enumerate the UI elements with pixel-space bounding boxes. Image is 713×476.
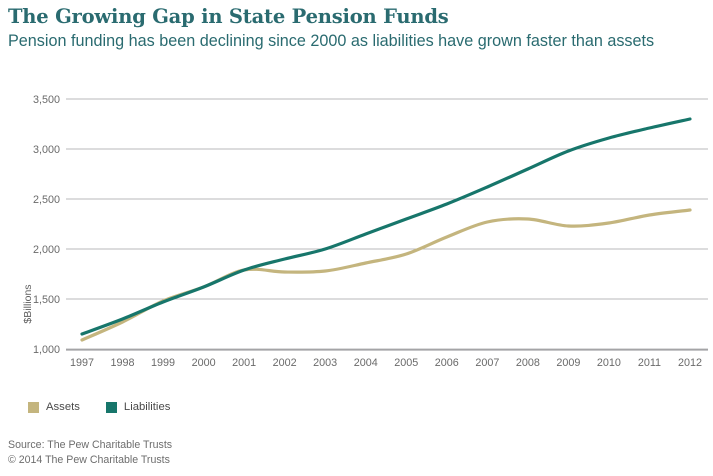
svg-text:2001: 2001	[232, 357, 256, 369]
copyright-note: © 2014 The Pew Charitable Trusts	[8, 453, 172, 468]
chart-title: The Growing Gap in State Pension Funds	[8, 6, 708, 28]
svg-text:2,500: 2,500	[33, 194, 60, 206]
source-note: Source: The Pew Charitable Trusts	[8, 438, 172, 453]
svg-text:2002: 2002	[273, 357, 297, 369]
legend-label-assets: Assets	[46, 401, 80, 413]
svg-text:1,500: 1,500	[33, 294, 60, 306]
y-axis-title: $Billions	[22, 259, 34, 349]
legend-label-liabilities: Liabilities	[124, 401, 170, 413]
svg-text:2011: 2011	[638, 357, 661, 369]
x-axis-tick-labels: 1997199819992000200120022003200420052006…	[70, 357, 702, 369]
svg-text:2004: 2004	[354, 357, 378, 369]
svg-text:1,000: 1,000	[33, 344, 60, 356]
svg-text:2003: 2003	[313, 357, 337, 369]
svg-text:1997: 1997	[70, 357, 94, 369]
series-line-liabilities	[82, 119, 690, 334]
data-series-lines	[82, 119, 690, 340]
svg-text:2,000: 2,000	[33, 244, 60, 256]
chart-header: The Growing Gap in State Pension Funds P…	[8, 6, 708, 52]
svg-text:3,500: 3,500	[33, 94, 60, 106]
svg-text:3,000: 3,000	[33, 144, 60, 156]
pension-funds-line-chart: The Growing Gap in State Pension Funds P…	[0, 0, 713, 476]
svg-text:2000: 2000	[192, 357, 216, 369]
svg-text:2012: 2012	[678, 357, 702, 369]
svg-text:1998: 1998	[111, 357, 135, 369]
chart-subtitle: Pension funding has been declining since…	[8, 32, 698, 52]
legend-swatch-assets-icon	[28, 402, 39, 413]
svg-text:1999: 1999	[151, 357, 175, 369]
y-axis-tick-labels: 1,0001,5002,0002,5003,0003,500	[33, 94, 60, 356]
legend-swatch-liabilities-icon	[106, 402, 117, 413]
svg-text:2008: 2008	[516, 357, 540, 369]
legend-item-assets[interactable]: Assets	[28, 401, 80, 413]
svg-text:2006: 2006	[435, 357, 459, 369]
svg-text:2005: 2005	[394, 357, 418, 369]
svg-text:2007: 2007	[475, 357, 499, 369]
chart-legend: Assets Liabilities	[28, 401, 170, 413]
chart-footer: Source: The Pew Charitable Trusts © 2014…	[8, 438, 172, 468]
svg-text:2010: 2010	[597, 357, 621, 369]
svg-text:2009: 2009	[556, 357, 580, 369]
series-line-assets	[82, 210, 690, 340]
legend-item-liabilities[interactable]: Liabilities	[106, 401, 170, 413]
chart-canvas: 1,0001,5002,0002,5003,0003,500 199719981…	[0, 85, 713, 375]
plot-area: 1,0001,5002,0002,5003,0003,500 199719981…	[0, 85, 713, 375]
